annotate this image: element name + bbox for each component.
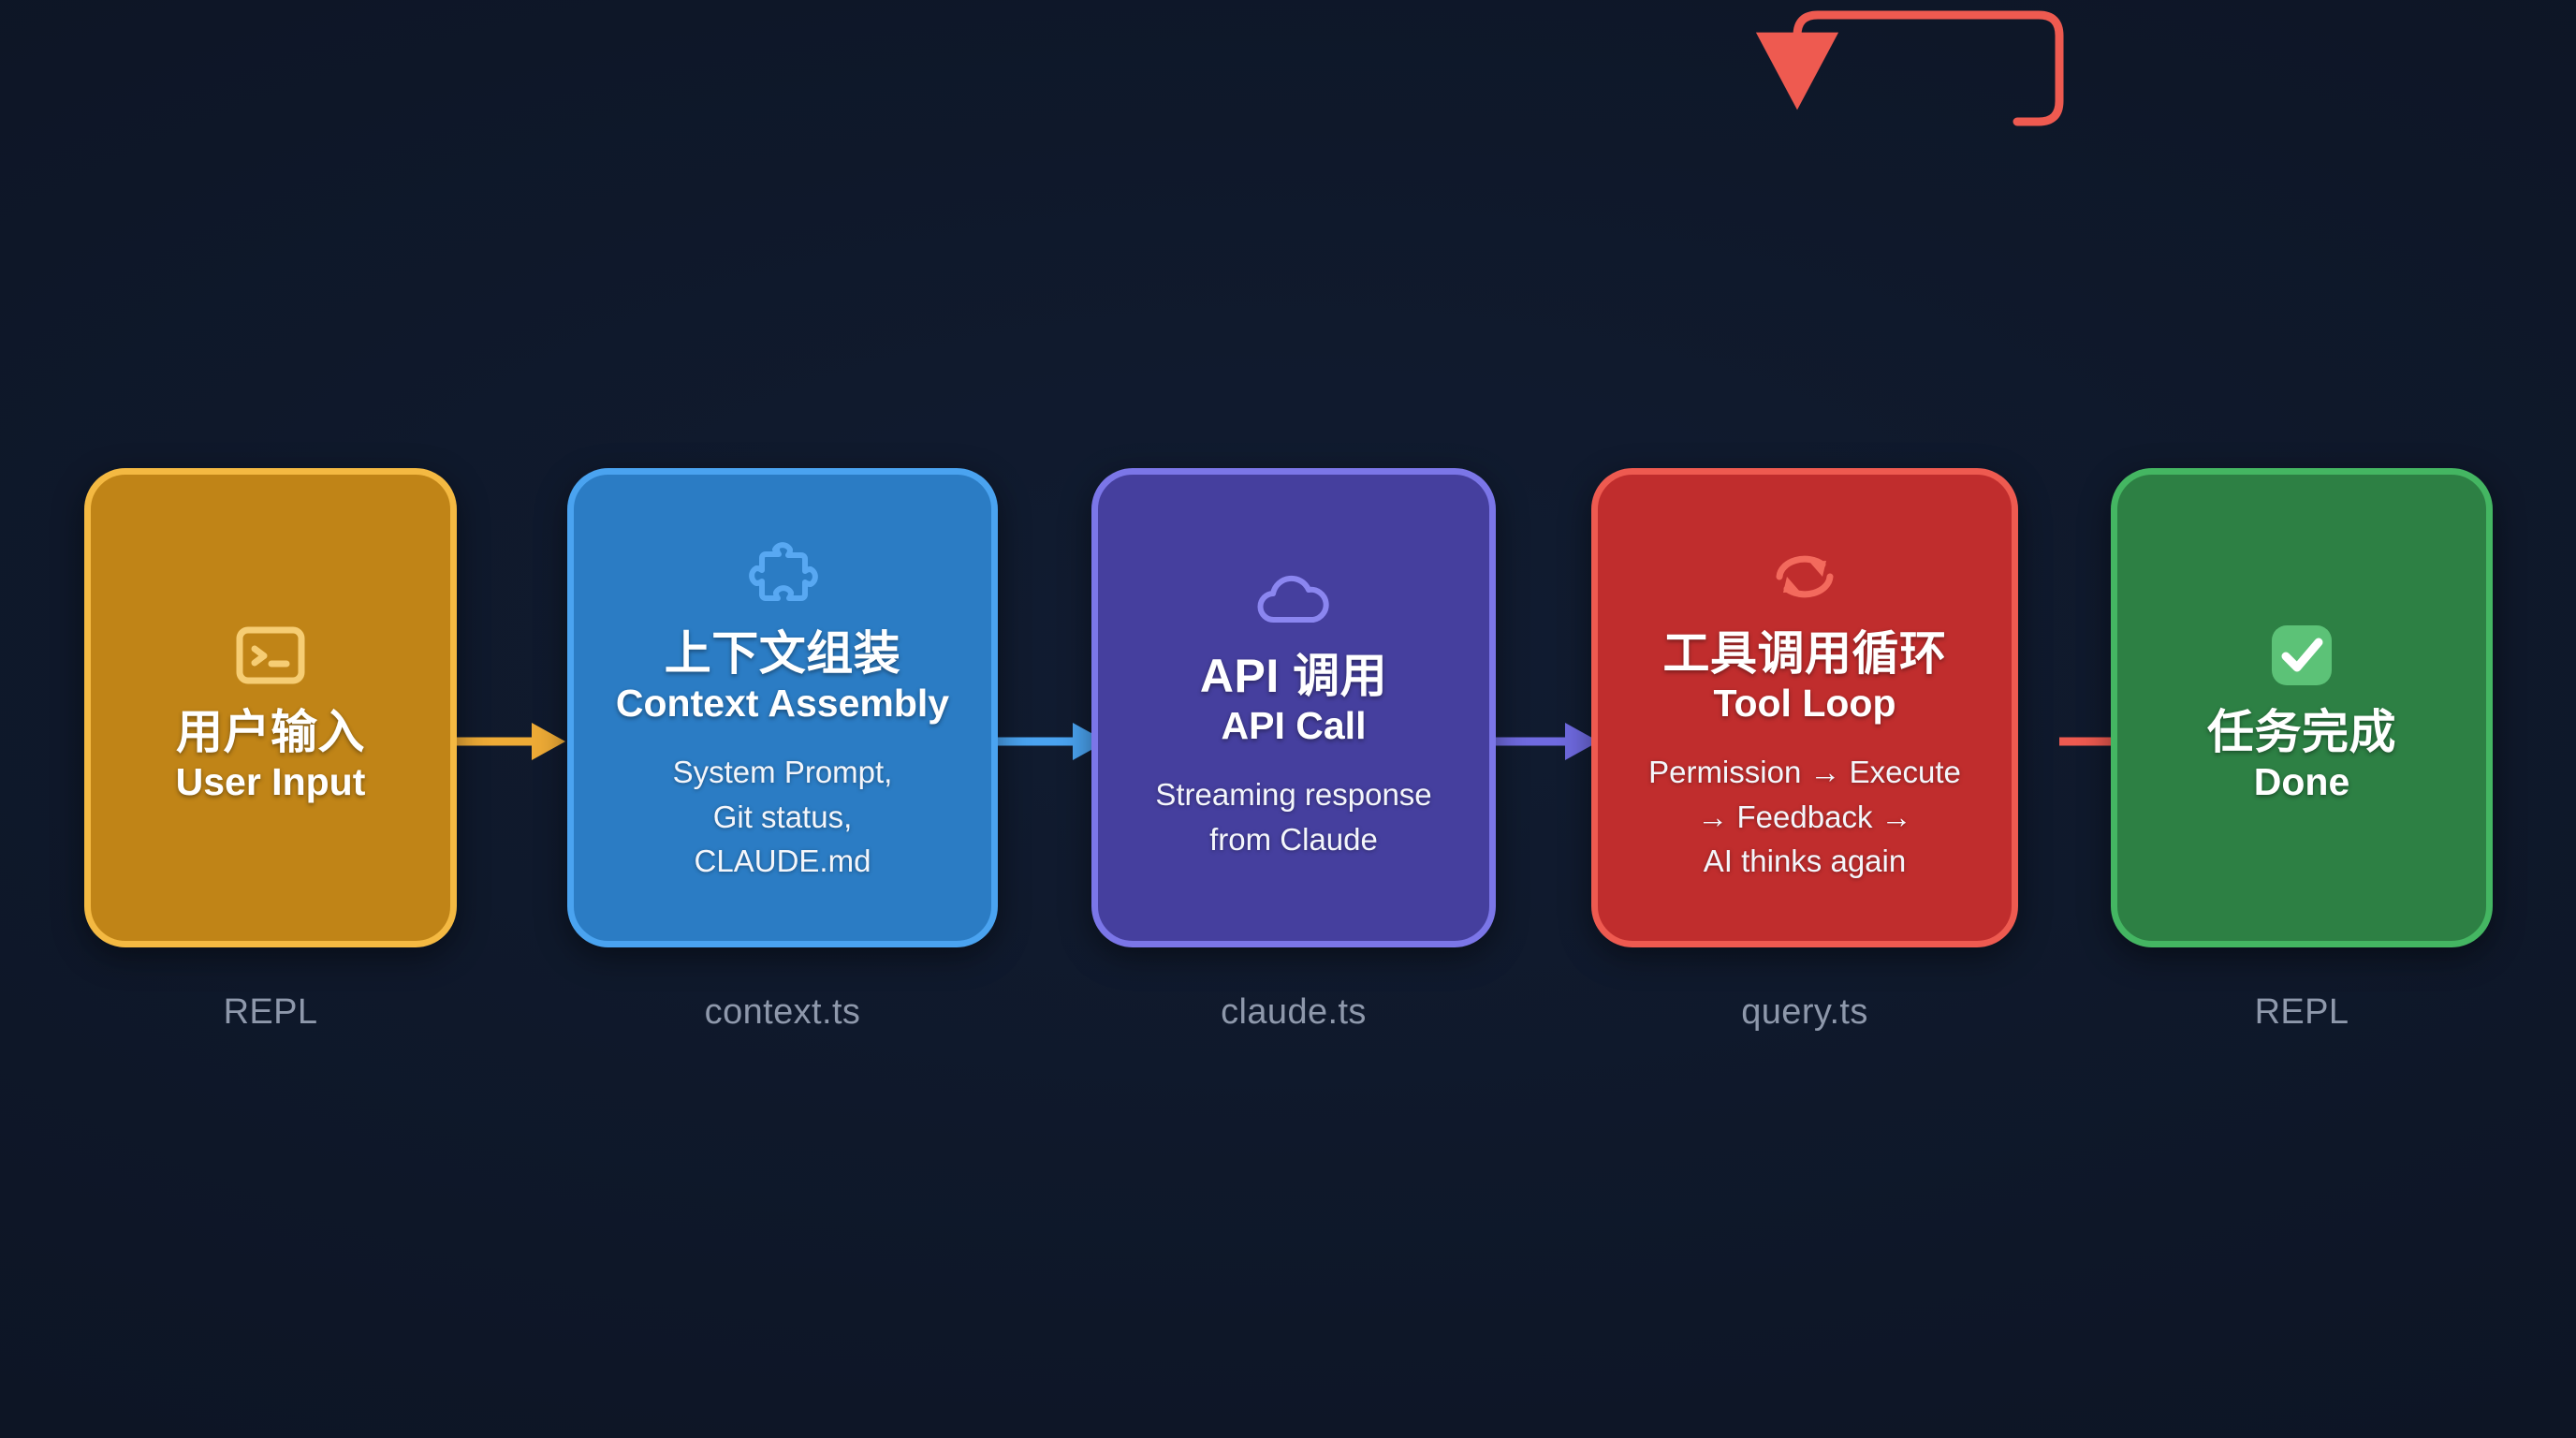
diagram-canvas: 用户输入 User Input REPL 上下文组装 Context Assem… [0, 0, 2576, 1438]
node-user-input[interactable]: 用户输入 User Input [84, 468, 457, 947]
tool-loop-feedback-arrow [0, 0, 2576, 262]
cloud-icon [1255, 573, 1332, 625]
refresh-loop-icon [1768, 544, 1841, 609]
node-title-cn: 任务完成 [2207, 706, 2396, 758]
node-description: System Prompt, Git status, CLAUDE.md [673, 750, 893, 885]
node-title-cn: 上下文组装 [665, 627, 901, 680]
node-caption-query: query.ts [1591, 992, 2018, 1033]
node-title-en: API Call [1222, 704, 1367, 748]
node-context-assembly[interactable]: 上下文组装 Context Assembly System Prompt, Gi… [567, 468, 998, 947]
cloud-icon-wrap [1255, 554, 1332, 644]
node-caption-user-input: REPL [84, 992, 457, 1033]
node-title-cn: 用户输入 [176, 706, 365, 758]
node-tool-loop[interactable]: 工具调用循环 Tool Loop Permission → Execute → … [1591, 468, 2018, 947]
flow-row: 用户输入 User Input REPL 上下文组装 Context Assem… [0, 468, 2576, 947]
node-title-en: Tool Loop [1713, 682, 1895, 726]
node-caption-done: REPL [2111, 992, 2493, 1033]
check-badge-icon [2270, 624, 2334, 687]
node-done[interactable]: 任务完成 Done [2111, 468, 2493, 947]
terminal-icon-wrap [236, 610, 305, 700]
arrow-api-to-tool-loop [1496, 715, 1601, 768]
node-description: Permission → Execute → Feedback → AI thi… [1648, 750, 1961, 885]
node-title-cn: 工具调用循环 [1663, 627, 1947, 680]
refresh-loop-icon-wrap [1768, 532, 1841, 622]
node-caption-context: context.ts [567, 992, 998, 1033]
node-caption-claude: claude.ts [1091, 992, 1496, 1033]
check-badge-icon-wrap [2270, 610, 2334, 700]
puzzle-piece-icon [747, 542, 818, 611]
arrow-user-input-to-context [457, 715, 567, 768]
terminal-icon [236, 626, 305, 684]
node-api-call[interactable]: API 调用 API Call Streaming response from … [1091, 468, 1496, 947]
node-description: Streaming response from Claude [1155, 772, 1431, 862]
node-title-en: User Input [176, 760, 366, 804]
node-title-en: Context Assembly [616, 682, 949, 726]
node-title-cn: API 调用 [1200, 650, 1387, 702]
node-title-en: Done [2254, 760, 2350, 804]
puzzle-piece-icon-wrap [747, 532, 818, 622]
